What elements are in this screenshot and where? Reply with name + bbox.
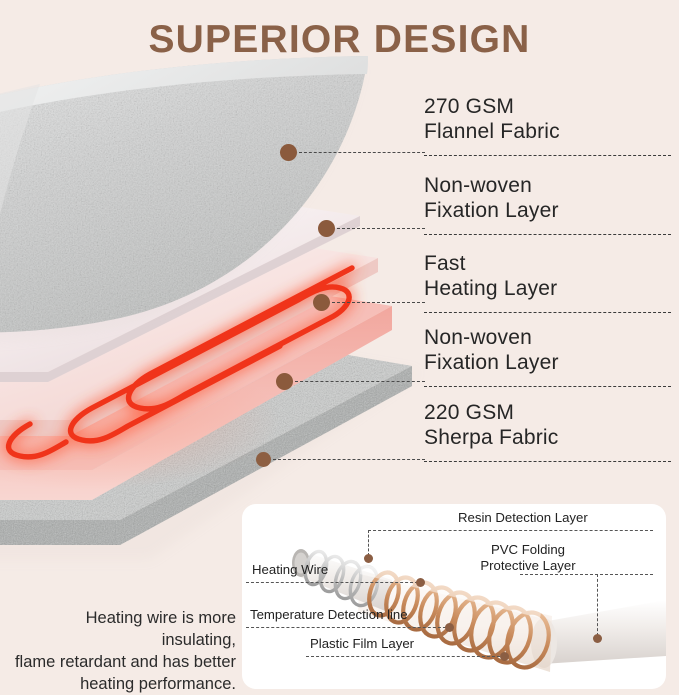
inset-label-pvc: PVC Folding Protective Layer: [440, 542, 616, 573]
layer-label-column: 270 GSMFlannel Fabric Non-wovenFixation …: [424, 0, 679, 500]
inset-leader-pvc: [597, 574, 598, 636]
layer-separator-3: [424, 312, 671, 313]
inset-sep-temp-line: [246, 627, 451, 628]
leader-line-nonwoven-top: [337, 228, 425, 229]
leader-dot-heating: [313, 294, 330, 311]
layer-label-nonwoven-bot-text: Non-wovenFixation Layer: [424, 325, 679, 375]
inset-dot-temp-line: [445, 623, 454, 632]
leader-line-nonwoven-bot: [295, 381, 425, 382]
layer-label-flannel: 270 GSMFlannel Fabric: [424, 94, 679, 144]
inset-dot-heating-wire: [416, 578, 425, 587]
layer-label-nonwoven-top: Non-wovenFixation Layer: [424, 173, 679, 223]
inset-sep-plastic-film: [306, 656, 505, 657]
layer-separator-4: [424, 386, 671, 387]
layer-separator-2: [424, 234, 671, 235]
layer-label-heating-text: FastHeating Layer: [424, 251, 679, 301]
inset-dot-resin: [364, 554, 373, 563]
inset-leader-resin: [368, 530, 369, 556]
leader-line-sherpa: [273, 459, 425, 460]
layer-label-sherpa-text: 220 GSMSherpa Fabric: [424, 400, 679, 450]
layer-label-sherpa: 220 GSMSherpa Fabric: [424, 400, 679, 450]
infographic-root: SUPERIOR DESIGN 270 GSMFlannel Fabric No…: [0, 0, 679, 679]
heating-wire-diagram: [242, 504, 666, 689]
inset-dot-plastic-film: [500, 652, 509, 661]
inset-label-resin: Resin Detection Layer: [458, 510, 588, 526]
inset-label-plastic-film: Plastic Film Layer: [310, 636, 414, 652]
inset-sep-heating-wire: [246, 582, 423, 583]
layer-label-flannel-text: 270 GSMFlannel Fabric: [424, 94, 679, 144]
heating-wire-inset-panel: Resin Detection Layer PVC Folding Protec…: [242, 504, 666, 689]
inset-sep-pvc: [520, 574, 653, 575]
inset-sep-resin: [368, 530, 653, 531]
leader-line-heating: [332, 302, 425, 303]
leader-dot-sherpa: [256, 452, 271, 467]
layer-label-heating: FastHeating Layer: [424, 251, 679, 301]
leader-line-flannel: [299, 152, 425, 153]
layer-separator-1: [424, 155, 671, 156]
leader-dot-nonwoven-bot: [276, 373, 293, 390]
layer-label-nonwoven-top-text: Non-wovenFixation Layer: [424, 173, 679, 223]
inset-label-temp-line: Temperature Detection line: [250, 607, 408, 623]
layer-label-nonwoven-bot: Non-wovenFixation Layer: [424, 325, 679, 375]
leader-dot-nonwoven-top: [318, 220, 335, 237]
layer-separator-5: [424, 461, 671, 462]
inset-dot-pvc: [593, 634, 602, 643]
inset-label-heating-wire: Heating Wire: [252, 562, 328, 578]
caption-text: Heating wire is more insulating, flame r…: [8, 607, 236, 695]
leader-dot-flannel: [280, 144, 297, 161]
